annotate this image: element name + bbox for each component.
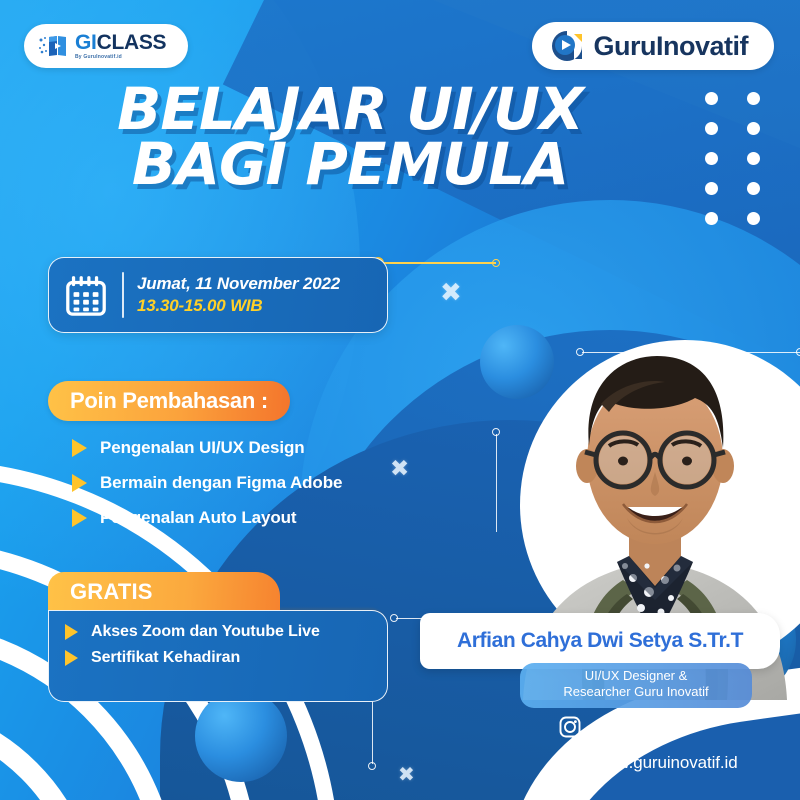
list-item: Bermain dengan Figma Adobe (72, 473, 342, 493)
grid-dot (705, 92, 718, 105)
instagram-link[interactable]: guruinovatif.id (558, 715, 738, 739)
gratis-item-label: Sertifikat Kehadiran (91, 649, 240, 667)
grid-dot (747, 92, 760, 105)
list-item: Sertifikat Kehadiran (65, 649, 371, 667)
calendar-icon (63, 272, 109, 318)
list-item: Akses Zoom dan Youtube Live (65, 623, 371, 641)
connector-vertical-portrait (492, 428, 502, 534)
giclass-wordmark: GI CLASS By GuruInovatif.id (75, 32, 166, 60)
page-title: BELAJAR UI/UX BAGI PEMULA (0, 82, 700, 191)
website-url: www.guruinovatif.id (593, 753, 738, 773)
triangle-bullet-icon (65, 624, 78, 640)
cross-decoration-2: ✖ (390, 458, 409, 481)
speaker-name: Arfian Cahya Dwi Setya S.Tr.T (457, 629, 743, 653)
dot-grid-decoration (705, 92, 763, 225)
triangle-bullet-icon (72, 509, 87, 527)
cross-decoration-3: ✖ (398, 764, 415, 784)
headline-line-2: BAGI PEMULA (0, 137, 700, 192)
list-item: Pengenalan Auto Layout (72, 508, 342, 528)
grid-dot (747, 152, 760, 165)
speaker-role-pill: UI/UX Designer & Researcher Guru Inovati… (520, 663, 752, 708)
gratis-label: GRATIS (70, 579, 153, 605)
event-time: 13.30-15.00 WIB (137, 296, 340, 316)
speaker-name-banner: Arfian Cahya Dwi Setya S.Tr.T (420, 613, 780, 669)
connector-node-yellow (492, 259, 500, 267)
speaker-role-line-1: UI/UX Designer & (534, 668, 738, 684)
guruinovatif-g-icon (550, 29, 584, 63)
grid-dot (705, 122, 718, 135)
triangle-bullet-icon (65, 650, 78, 666)
grid-dot (705, 212, 718, 225)
topic-label: Pengenalan Auto Layout (100, 508, 296, 528)
instagram-handle: guruinovatif.id (593, 717, 697, 737)
connector-node (368, 762, 376, 770)
promo-poster: ✖ ✖ ✖ (0, 0, 800, 800)
triangle-bullet-icon (72, 474, 87, 492)
decorative-sphere-2 (195, 690, 287, 782)
giclass-logo[interactable]: GI CLASS By GuruInovatif.id (24, 24, 188, 68)
website-link[interactable]: www.guruinovatif.id (558, 751, 738, 775)
event-date: Jumat, 11 November 2022 (137, 274, 340, 294)
globe-icon (558, 751, 582, 775)
footer-social-links: guruinovatif.id www.guruinovatif.id (558, 715, 738, 775)
guruinovatif-logo[interactable]: GuruInovatif (532, 22, 775, 70)
triangle-bullet-icon (72, 439, 87, 457)
grid-dot (747, 212, 760, 225)
connector-vertical-bottom (368, 700, 378, 772)
speaker-role-line-2: Researcher Guru Inovatif (534, 684, 738, 700)
connector-node (390, 614, 398, 622)
topic-label: Bermain dengan Figma Adobe (100, 473, 342, 493)
logo-gi-text: GI (75, 32, 97, 53)
topics-heading-pill: Poin Pembahasan : (48, 381, 290, 421)
gratis-item-label: Akses Zoom dan Youtube Live (91, 623, 320, 641)
logo-subtitle: By GuruInovatif.id (75, 54, 122, 60)
date-text-group: Jumat, 11 November 2022 13.30-15.00 WIB (137, 274, 340, 316)
grid-dot (705, 152, 718, 165)
gratis-tab: GRATIS (48, 572, 280, 612)
cross-decoration-1: ✖ (440, 280, 462, 306)
list-item: Pengenalan UI/UX Design (72, 438, 342, 458)
guruinovatif-wordmark: GuruInovatif (594, 31, 749, 62)
grid-dot (705, 182, 718, 195)
grid-dot (747, 182, 760, 195)
date-divider (122, 272, 124, 318)
connector-node (492, 428, 500, 436)
topics-heading-label: Poin Pembahasan : (70, 388, 268, 414)
topic-label: Pengenalan UI/UX Design (100, 438, 305, 458)
event-date-card: Jumat, 11 November 2022 13.30-15.00 WIB (48, 257, 388, 333)
gratis-list: Akses Zoom dan Youtube Live Sertifikat K… (48, 610, 388, 702)
logo-class-text: CLASS (97, 32, 167, 53)
grid-dot (747, 122, 760, 135)
topics-list: Pengenalan UI/UX Design Bermain dengan F… (72, 438, 342, 528)
instagram-icon (558, 715, 582, 739)
connector-yellow (372, 256, 502, 270)
book-icon (38, 32, 68, 60)
